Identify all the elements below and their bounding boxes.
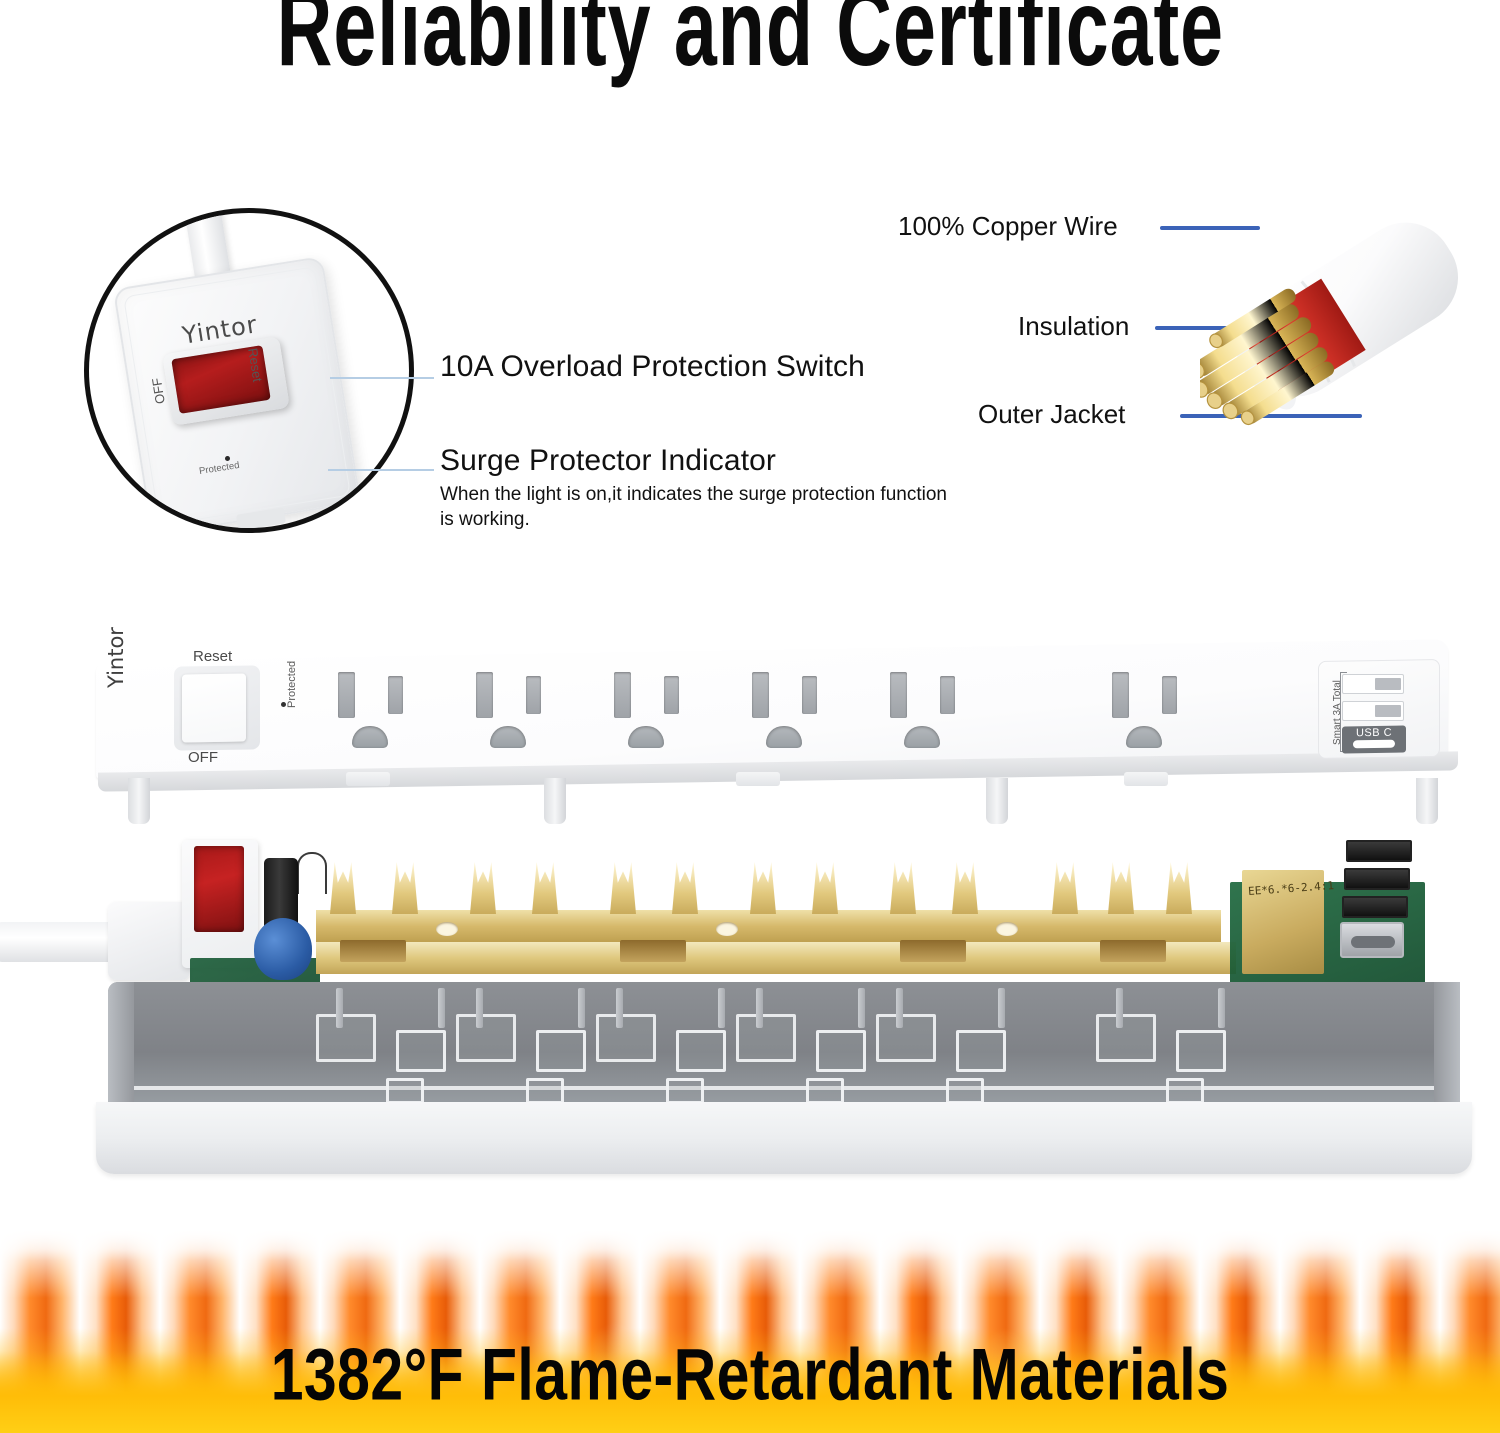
housing-post [476, 988, 483, 1028]
outlet-slot-right [940, 676, 955, 714]
contact-clip [392, 862, 418, 914]
socket-slot [526, 1078, 564, 1104]
strip-reset-label: Reset [193, 648, 232, 665]
strip-protected-label: Protected [286, 661, 298, 708]
contact-clip [952, 862, 978, 914]
usb-c-label: USB C [1356, 727, 1392, 740]
contact-clip [532, 862, 558, 914]
outlet-slot-right [526, 676, 541, 714]
power-cord [0, 922, 116, 962]
contact-clip [1166, 862, 1192, 914]
outlet-ground-hole [766, 726, 802, 748]
outlet-6[interactable] [1106, 664, 1210, 754]
outlet-slot-left [890, 672, 907, 718]
cover-clip-2 [736, 772, 780, 786]
outlet-slot-left [752, 672, 769, 718]
outlet-slot-left [476, 672, 493, 718]
socket-compartment [316, 1014, 376, 1062]
outlet-ground-hole [628, 726, 664, 748]
outlet-slot-right [664, 676, 679, 714]
outlet-slot-right [1162, 676, 1177, 714]
outlet-slot-left [338, 672, 355, 718]
power-strip-bottom-housing [108, 982, 1460, 1174]
outlet-ground-hole [490, 726, 526, 748]
socket-compartment [736, 1014, 796, 1062]
housing-post [578, 988, 585, 1028]
housing-post [718, 988, 725, 1028]
leader-line-overload [330, 377, 434, 379]
brass-busbar-lower [316, 942, 1236, 974]
page-title-band: Reliability and Certificate [0, 0, 1500, 78]
usb-a-port-2[interactable] [1342, 701, 1404, 721]
callout-outer-jacket: Outer Jacket [978, 399, 1125, 430]
strip-off-label: OFF [188, 749, 218, 766]
contact-clip [1108, 862, 1134, 914]
socket-compartment [536, 1030, 586, 1072]
internal-usb-a-connector-3 [1342, 896, 1408, 918]
outlet-ground-hole [1126, 726, 1162, 748]
ground-clip [1100, 940, 1166, 962]
usb-c-slot [1353, 740, 1395, 749]
housing-post [438, 988, 445, 1028]
usb-c-port[interactable]: USB C [1342, 725, 1406, 753]
cover-clip-3 [1124, 772, 1168, 786]
usb-a-port-1[interactable] [1342, 674, 1404, 694]
socket-compartment [876, 1014, 936, 1062]
busbar-hole [996, 922, 1018, 936]
ground-clip [620, 940, 686, 962]
outlet-ground-hole [352, 726, 388, 748]
cover-post-3 [986, 778, 1008, 824]
housing-wall-right [1434, 982, 1460, 1110]
internal-usb-c-connector [1340, 922, 1404, 958]
switch-closeup-inset: Yintor Reset OFF Protected [84, 208, 414, 533]
contact-clip [610, 862, 636, 914]
callout-insulation: Insulation [1018, 311, 1129, 342]
internal-usb-a-connector-2 [1344, 868, 1410, 890]
housing-wall-left [108, 982, 134, 1110]
busbar-hole [716, 922, 738, 936]
flame-banner: 1382°F Flame-Retardant Materials [0, 1228, 1500, 1433]
housing-rail [134, 1086, 1434, 1090]
left-callout-group: 10A Overload Protection Switch Surge Pro… [440, 350, 960, 533]
flame-top-fade [0, 1228, 1500, 1298]
housing-post [756, 988, 763, 1028]
cover-clip-1 [346, 772, 390, 786]
capacitor-lead-wire [297, 852, 327, 894]
contact-clip [750, 862, 776, 914]
socket-slot [386, 1078, 424, 1104]
housing-post [1116, 988, 1123, 1028]
housing-front-face [96, 1102, 1472, 1174]
contact-clip [672, 862, 698, 914]
outlet-2[interactable] [470, 664, 574, 754]
socket-compartment [456, 1014, 516, 1062]
outlet-4[interactable] [746, 664, 850, 754]
outlet-ground-hole [904, 726, 940, 748]
housing-post [858, 988, 865, 1028]
outlet-slot-left [614, 672, 631, 718]
socket-compartment [676, 1030, 726, 1072]
callout-surge-description: When the light is on,it indicates the su… [440, 482, 960, 533]
outlet-3[interactable] [608, 664, 712, 754]
outlet-slot-left [1112, 672, 1129, 718]
strip-power-switch[interactable] [182, 673, 246, 742]
socket-slot [806, 1078, 844, 1104]
cover-post-1 [128, 778, 150, 824]
contact-clip [890, 862, 916, 914]
internal-usb-a-connector-1 [1346, 840, 1412, 862]
socket-slot [1166, 1078, 1204, 1104]
blue-varistor [254, 918, 312, 980]
ground-clip [340, 940, 406, 962]
callout-surge-heading: Surge Protector Indicator [440, 444, 960, 478]
socket-slot [946, 1078, 984, 1104]
cover-post-2 [544, 778, 566, 824]
contact-clip [1052, 862, 1078, 914]
leader-line-surge [328, 469, 434, 471]
strip-brand-logo: Yintor [104, 627, 128, 688]
socket-compartment [816, 1030, 866, 1072]
ground-clip [900, 940, 966, 962]
housing-post [616, 988, 623, 1028]
housing-post [336, 988, 343, 1028]
socket-compartment [1096, 1014, 1156, 1062]
outlet-slot-right [388, 676, 403, 714]
cord-strain-relief [108, 902, 190, 980]
cable-cross-section-image [1200, 155, 1500, 485]
socket-compartment [956, 1030, 1006, 1072]
outlet-slot-right [802, 676, 817, 714]
socket-compartment [596, 1014, 656, 1062]
callout-overload-heading: 10A Overload Protection Switch [440, 350, 960, 384]
housing-post [1218, 988, 1225, 1028]
usb-smart-total-label: Smart 3A Total [1332, 680, 1343, 745]
housing-post [998, 988, 1005, 1028]
page-title: Reliability and Certificate [276, 0, 1223, 91]
contact-clip [330, 862, 356, 914]
contact-clip [812, 862, 838, 914]
callout-copper-wire: 100% Copper Wire [898, 211, 1118, 242]
flame-banner-text: 1382°F Flame-Retardant Materials [38, 1334, 1463, 1418]
power-strip-top-cover: Yintor Reset OFF Protected USB C [96, 650, 1466, 785]
rocker-switch-red [194, 846, 244, 932]
contact-clip [470, 862, 496, 914]
outlet-1[interactable] [332, 664, 436, 754]
socket-compartment [396, 1030, 446, 1072]
housing-post [896, 988, 903, 1028]
outlet-5[interactable] [884, 664, 988, 754]
socket-slot [666, 1078, 704, 1104]
busbar-hole [436, 922, 458, 936]
socket-compartment [1176, 1030, 1226, 1072]
cover-post-4 [1416, 778, 1438, 824]
